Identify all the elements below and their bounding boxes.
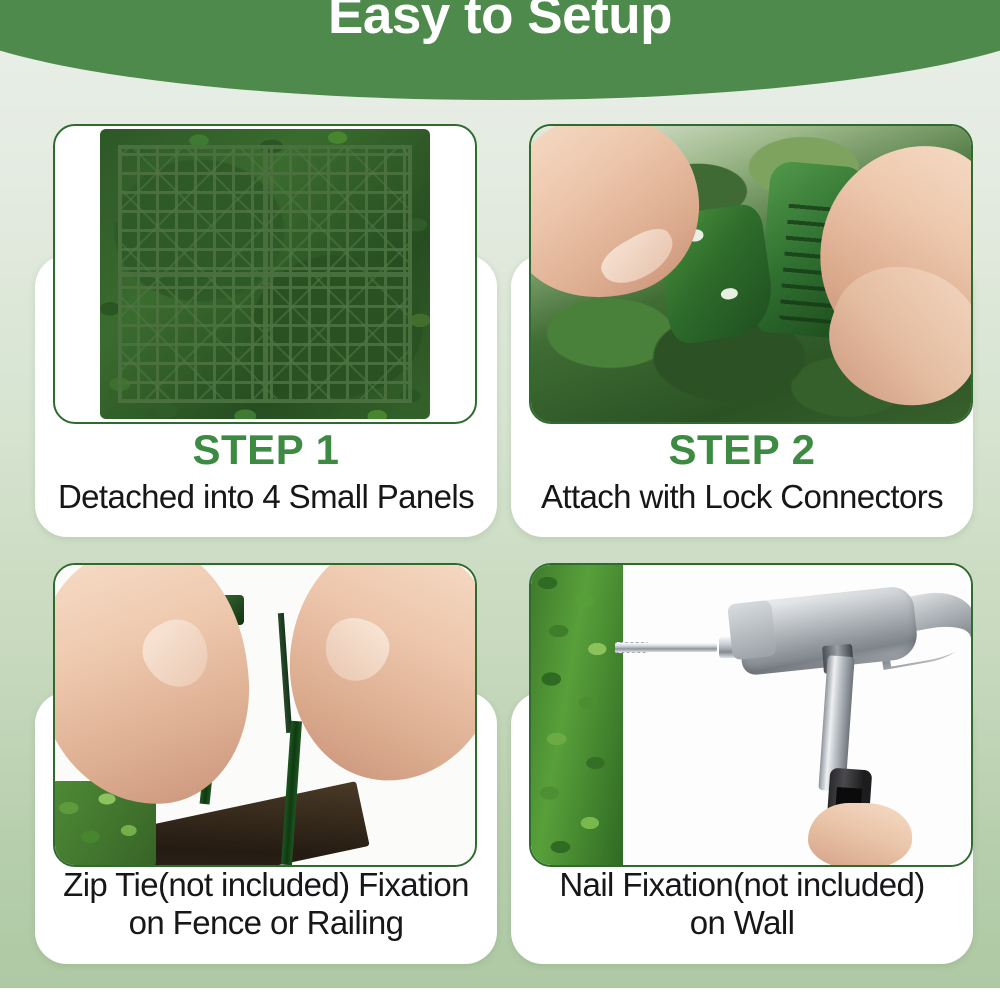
step-2-caption: Attach with Lock Connectors (511, 478, 973, 516)
hedge-panel-illustration (100, 129, 430, 419)
fingernail-right (316, 610, 397, 690)
lock-connector-photo (531, 126, 971, 422)
zip-tie-photo-frame (53, 563, 477, 867)
nail-caption-line-1: Nail Fixation(not included) (511, 866, 973, 904)
nail-caption-line-2: on Wall (511, 904, 973, 942)
zip-tie-caption-line-2: on Fence or Railing (35, 904, 497, 942)
hedge-panel-divider (118, 145, 412, 403)
nail-illustration (615, 637, 743, 658)
nail-caption-block: Nail Fixation(not included) on Wall (511, 866, 973, 941)
hammer-face (727, 600, 777, 661)
zip-tie-caption-block: Zip Tie(not included) Fixation on Fence … (35, 866, 497, 941)
step-1-caption-block: STEP 1 Detached into 4 Small Panels (35, 428, 497, 516)
step-2-caption-block: STEP 2 Attach with Lock Connectors (511, 428, 973, 516)
zip-tie-photo (55, 565, 475, 865)
nail-photo-frame (529, 563, 973, 867)
connector-hole-bottom (720, 287, 738, 301)
step-2-label: STEP 2 (511, 428, 973, 472)
leaf-wall-edge (531, 565, 623, 865)
infographic-root: Easy to Setup STEP 1 Detached into 4 Sma… (0, 0, 1000, 1000)
step-2-photo-frame (529, 124, 973, 424)
step-1-label: STEP 1 (35, 428, 497, 472)
hedge-panel-photo (55, 126, 475, 422)
page-title: Easy to Setup (0, 0, 1000, 44)
zip-tie-caption-line-1: Zip Tie(not included) Fixation (35, 866, 497, 904)
step-1-caption: Detached into 4 Small Panels (35, 478, 497, 516)
nail-shank (615, 643, 717, 652)
nail-hammer-photo (531, 565, 971, 865)
hand-gripping-hammer (808, 803, 911, 867)
fingernail-left (133, 610, 220, 699)
hammer-illustration (725, 577, 971, 859)
step-1-photo-frame (53, 124, 477, 424)
